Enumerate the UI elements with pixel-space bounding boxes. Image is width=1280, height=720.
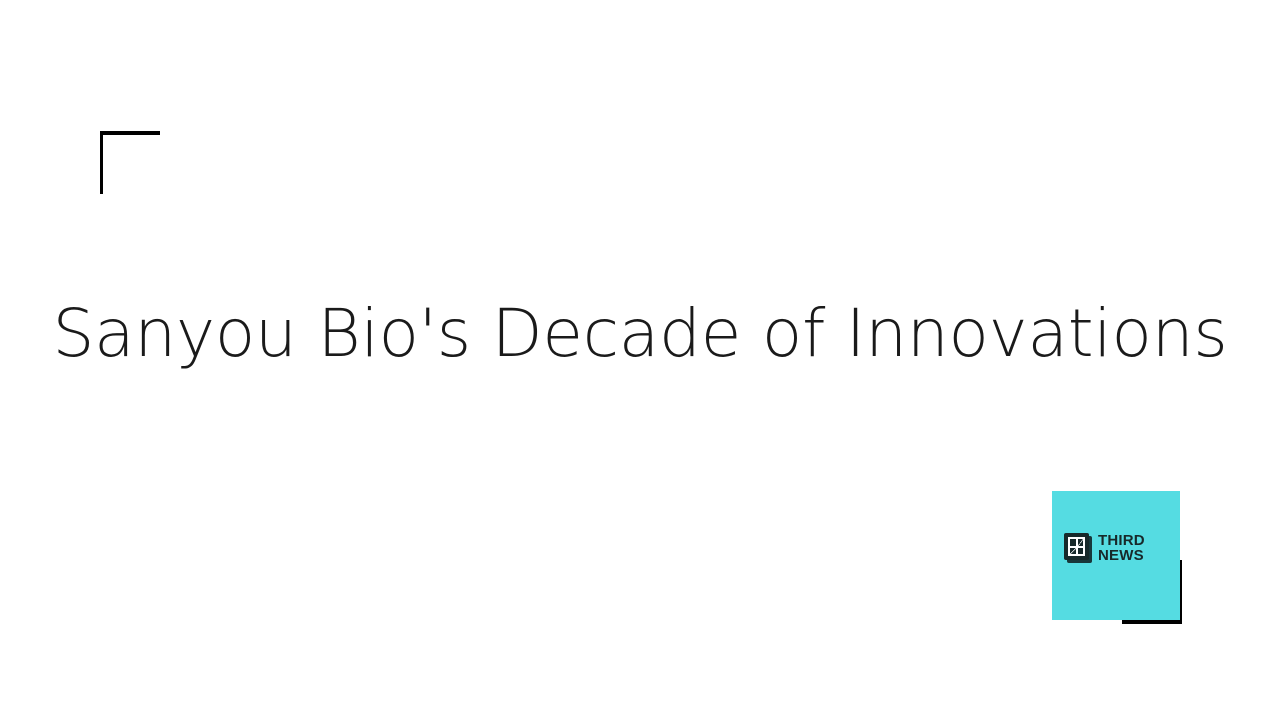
icon-pane <box>1070 539 1076 546</box>
logo-lockup: THIRD NEWS <box>1064 533 1145 563</box>
icon-pane <box>1078 539 1084 546</box>
logo-wordmark-line-2: NEWS <box>1098 548 1145 563</box>
logo-wordmark-line-1: THIRD <box>1098 533 1145 548</box>
icon-pane <box>1078 548 1084 555</box>
icon-panes <box>1068 537 1085 556</box>
logo-wordmark: THIRD NEWS <box>1098 533 1145 563</box>
slide-title: Sanyou Bio's Decade of Innovations <box>0 296 1280 372</box>
newspaper-grid-icon <box>1064 533 1092 563</box>
icon-pane <box>1070 548 1076 555</box>
top-left-corner-bracket <box>100 131 160 194</box>
presentation-slide: Sanyou Bio's Decade of Innovations THIRD… <box>0 0 1280 720</box>
third-news-logo-badge: THIRD NEWS <box>1052 491 1180 620</box>
